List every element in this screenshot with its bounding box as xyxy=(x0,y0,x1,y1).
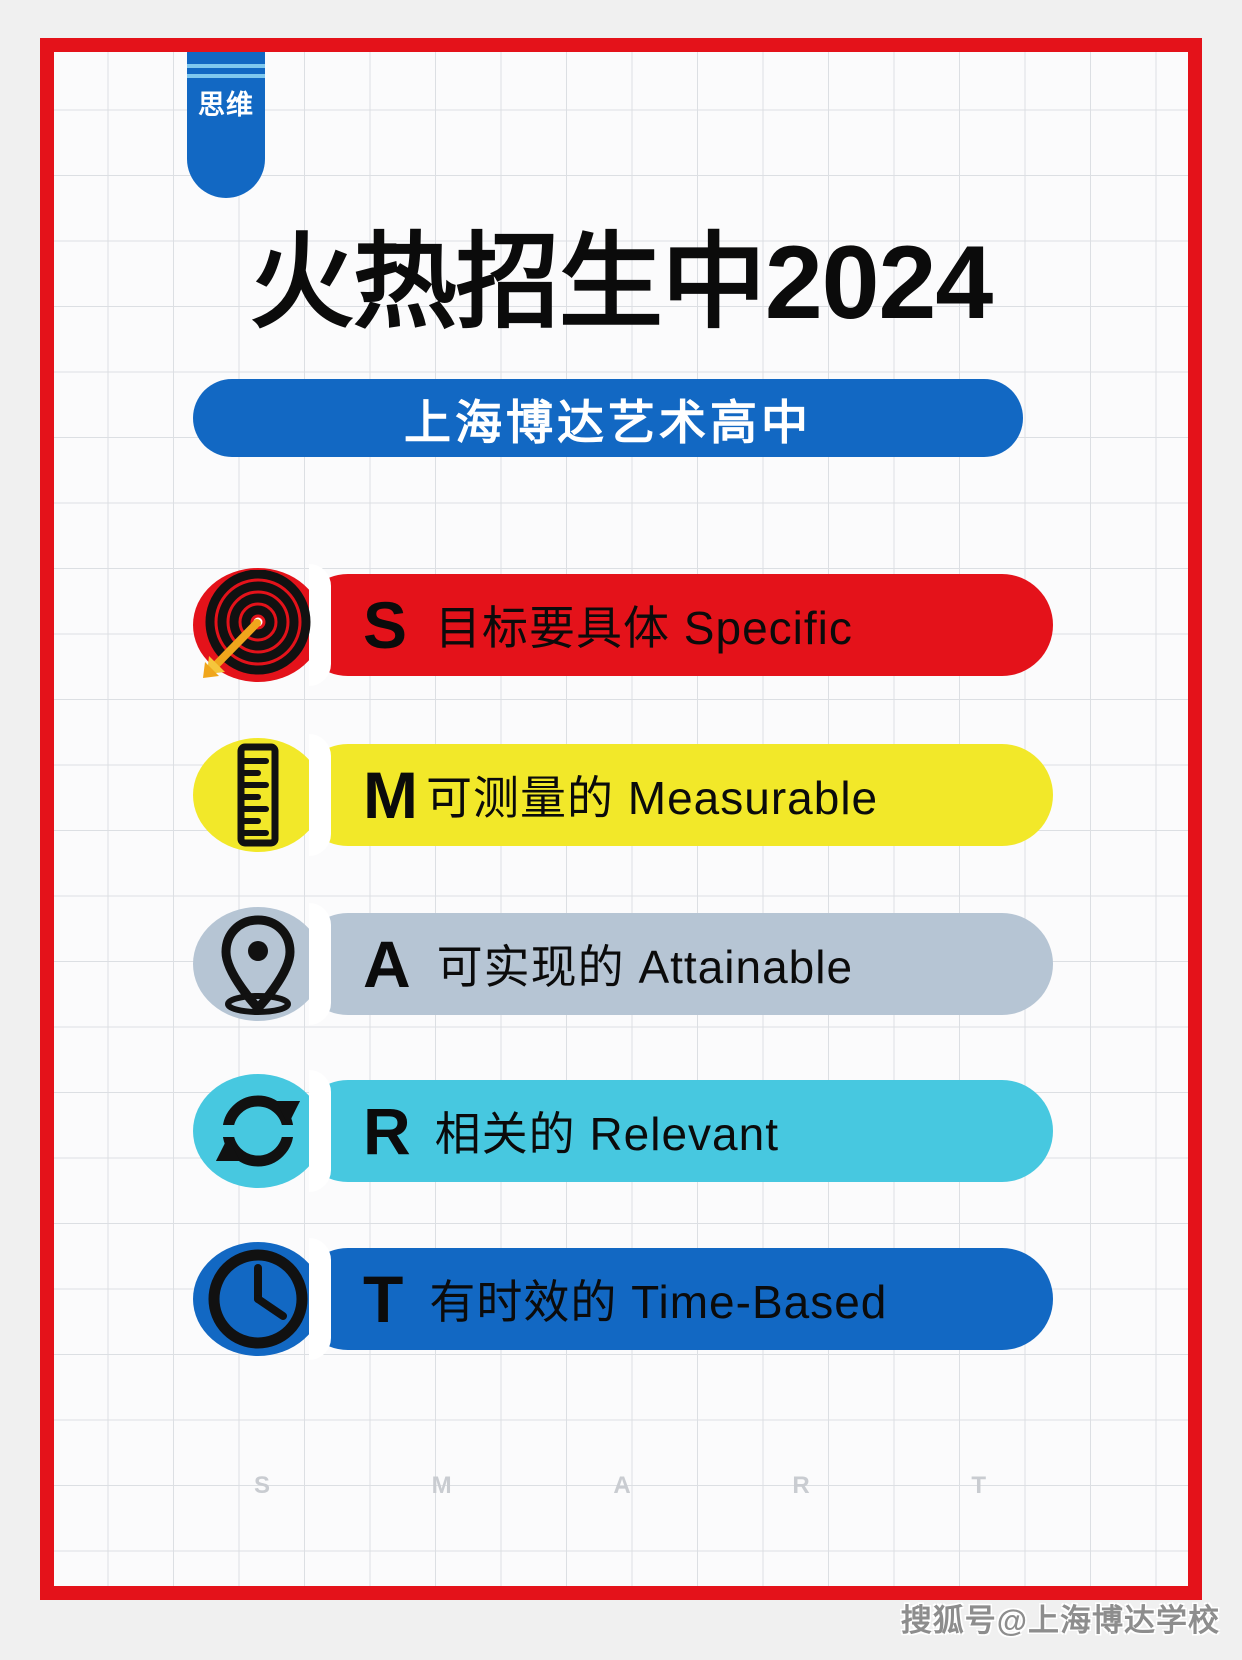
tab-stripe-top xyxy=(187,64,265,68)
smart-row-m-badge xyxy=(193,738,323,852)
smart-row-m-label: 可测量的 Measurable xyxy=(426,762,878,828)
smart-row-a-badge xyxy=(193,907,323,1021)
smart-row-a-letter: A xyxy=(363,931,411,997)
smart-row-a-bar: A 可实现的 Attainable xyxy=(297,913,1053,1015)
tab-label: 思维 xyxy=(187,86,265,124)
smart-row-t-letter: T xyxy=(363,1266,403,1332)
smart-row-s-label: 目标要具体 Specific xyxy=(435,592,853,658)
footer-letter-t: T xyxy=(971,1472,988,1500)
smart-row-m-bar: M 可测量的 Measurable xyxy=(297,744,1053,846)
target-icon xyxy=(199,570,317,680)
smart-row-t-bar: T 有时效的 Time-Based xyxy=(297,1248,1053,1350)
smart-footer-letters: S M A R T xyxy=(254,1472,988,1500)
watermark: 搜狐号@上海博达学校 xyxy=(901,1595,1220,1640)
smart-row-r-bar: R 相关的 Relevant xyxy=(297,1080,1053,1182)
smart-row-t-badge xyxy=(193,1242,323,1356)
smart-row-t[interactable]: T 有时效的 Time-Based xyxy=(193,1242,1053,1356)
poster-frame: 火热招生中2024 上海博达艺术高中 S 目标要具体 Specific xyxy=(40,38,1202,1600)
smart-row-m[interactable]: M 可测量的 Measurable xyxy=(193,738,1053,852)
ruler-icon xyxy=(208,743,308,847)
tab-stripe-bottom xyxy=(187,74,265,78)
refresh-cycle-icon xyxy=(206,1079,310,1183)
footer-letter-a: A xyxy=(613,1472,632,1500)
smart-row-m-letter: M xyxy=(363,762,418,828)
smart-row-r-badge xyxy=(193,1074,323,1188)
footer-letter-m: M xyxy=(432,1472,454,1500)
smart-row-r-letter: R xyxy=(363,1098,411,1164)
smart-row-a-label: 可实现的 Attainable xyxy=(437,931,853,997)
smart-row-t-label: 有时效的 Time-Based xyxy=(429,1266,887,1332)
smart-row-s-letter: S xyxy=(363,592,407,658)
poster-content: 火热招生中2024 上海博达艺术高中 S 目标要具体 Specific xyxy=(54,52,1188,1586)
footer-letter-r: R xyxy=(792,1472,811,1500)
side-tab-thinking[interactable]: 思维 xyxy=(187,52,265,198)
smart-row-s-bar: S 目标要具体 Specific xyxy=(297,574,1053,676)
clock-icon xyxy=(205,1246,311,1352)
smart-row-r-label: 相关的 Relevant xyxy=(435,1098,779,1164)
smart-list: S 目标要具体 Specific xyxy=(54,52,1188,1586)
smart-row-s-badge xyxy=(193,568,323,682)
footer-letter-s: S xyxy=(254,1472,272,1500)
smart-row-a[interactable]: A 可实现的 Attainable xyxy=(193,907,1053,1021)
smart-row-r[interactable]: R 相关的 Relevant xyxy=(193,1074,1053,1188)
smart-row-s[interactable]: S 目标要具体 Specific xyxy=(193,568,1053,682)
map-pin-icon xyxy=(206,912,310,1016)
